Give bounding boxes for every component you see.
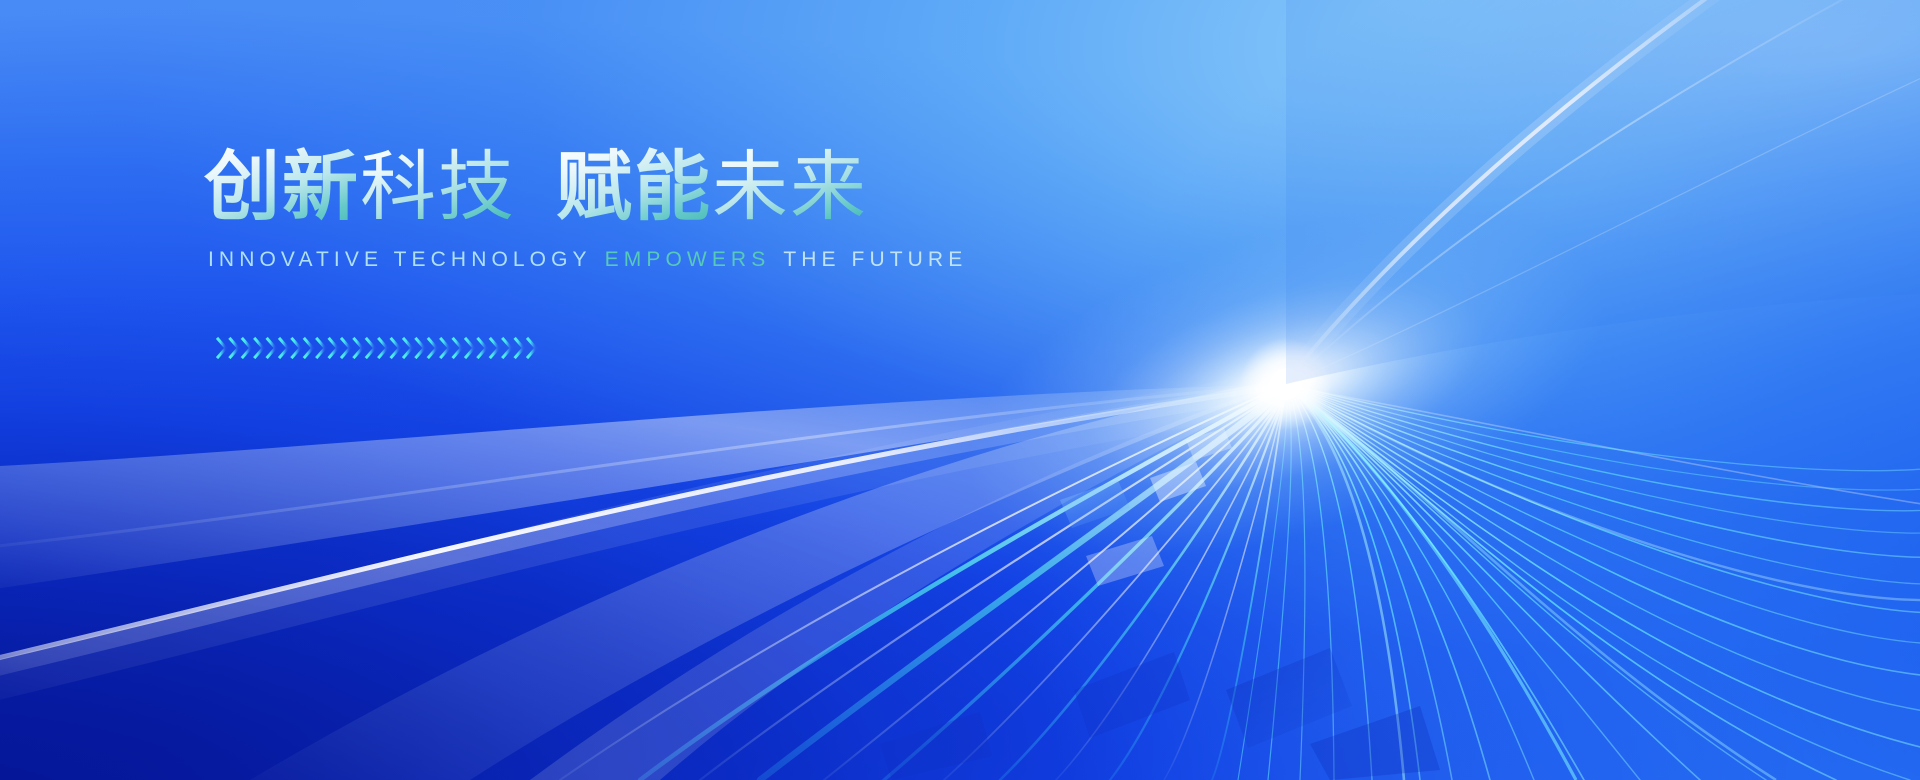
headline-segment-3: 赋能 — [556, 146, 712, 228]
chevron-icon — [305, 339, 313, 357]
headline-segment-1: 创新 — [204, 146, 360, 228]
chevron-icon — [255, 339, 263, 357]
chevron-icon — [416, 339, 424, 357]
chevron-icon — [243, 339, 251, 357]
headline-segment-4: 未来 — [712, 146, 868, 228]
chevron-icon — [342, 339, 350, 357]
chevron-icon — [404, 339, 412, 357]
chevron-icon — [466, 339, 474, 357]
chevron-icon — [379, 339, 387, 357]
chevron-icon — [478, 339, 486, 357]
chevron-icon — [454, 339, 462, 357]
chevron-icon — [441, 339, 449, 357]
abstract-light-scene — [0, 0, 1920, 780]
chevron-icon — [429, 339, 437, 357]
subtitle-part-three: THE FUTURE — [783, 248, 967, 271]
chevron-glyph-set — [218, 339, 536, 357]
headline-segment-2: 科技 — [360, 146, 516, 228]
chevron-icon — [491, 339, 499, 357]
chevron-icon — [503, 339, 511, 357]
chevron-icon — [218, 339, 226, 357]
subtitle-part-two: EMPOWERS — [605, 248, 771, 271]
chevron-icon — [392, 339, 400, 357]
chevron-icon — [292, 339, 300, 357]
chevron-icon — [317, 339, 325, 357]
chevron-icon — [268, 339, 276, 357]
headline-block: 创新科技赋能未来 INNOVATIVE TECHNOLOGYEMPOWERSTH… — [204, 146, 1104, 272]
right-field-shade — [1286, 0, 1920, 384]
chevron-icon — [367, 339, 375, 357]
hero-banner: 创新科技赋能未来 INNOVATIVE TECHNOLOGYEMPOWERSTH… — [0, 0, 1920, 780]
subtitle-part-one: INNOVATIVE TECHNOLOGY — [208, 248, 592, 271]
chevron-icon — [516, 339, 524, 357]
chevron-icon — [330, 339, 338, 357]
page-title: 创新科技赋能未来 — [204, 146, 1104, 228]
chevron-icon — [280, 339, 288, 357]
chevron-icon — [230, 339, 238, 357]
page-subtitle: INNOVATIVE TECHNOLOGYEMPOWERSTHE FUTURE — [208, 248, 1104, 272]
chevron-icon — [528, 339, 536, 357]
chevron-icon — [354, 339, 362, 357]
forward-chevron-row — [216, 334, 546, 362]
